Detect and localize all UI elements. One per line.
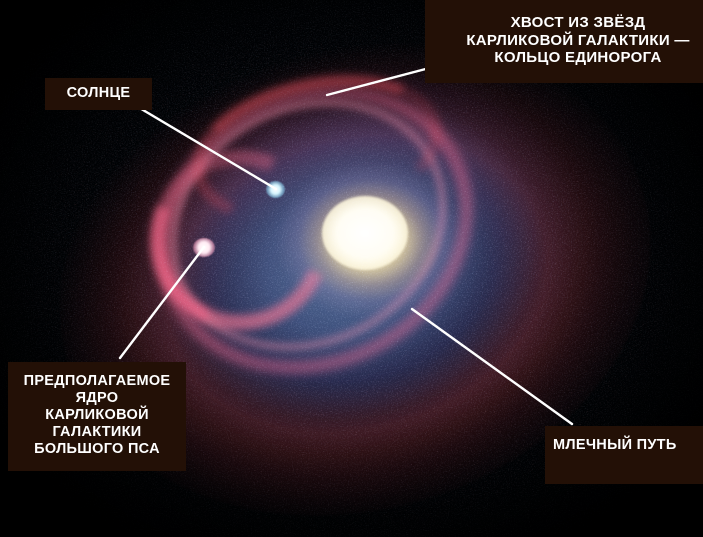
callout-monoceros-ring: ХВОСТ ИЗ ЗВЁЗД КАРЛИКОВОЙ ГАЛАКТИКИ — КО… (425, 0, 703, 83)
leader-line-nucleus (120, 247, 204, 358)
leader-line-milkyway (412, 309, 572, 424)
galactic-bulge (275, 160, 465, 320)
leader-line-tail (327, 66, 437, 95)
tidal-stream-ring-inner (125, 52, 490, 398)
callout-milky-way: МЛЕЧНЫЙ ПУТЬ (545, 426, 703, 484)
sun-marker (266, 181, 285, 198)
callout-sun: СОЛНЦЕ (45, 78, 152, 110)
callout-dwarf-galaxy-nucleus: ПРЕДПОЛАГАЕМОЕ ЯДРО КАРЛИКОВОЙ ГАЛАКТИКИ… (8, 362, 186, 471)
tidal-stream-limb (123, 123, 357, 357)
dwarf-galaxy-nucleus-marker (193, 238, 215, 257)
tidal-stream-arc-top (178, 53, 456, 247)
galactic-core (322, 196, 408, 270)
leader-line-sun (138, 107, 276, 189)
galaxy-diagram: ХВОСТ ИЗ ЗВЁЗД КАРЛИКОВОЙ ГАЛАКТИКИ — КО… (0, 0, 703, 537)
